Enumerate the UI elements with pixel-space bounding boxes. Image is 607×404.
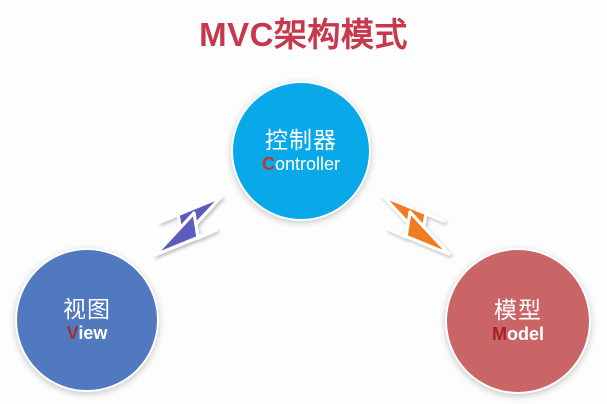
node-model-label-cn: 模型 [494,298,542,323]
connector-controller-view [155,197,221,255]
node-model-label-en: Model [492,324,544,345]
node-controller-label-en: Controller [262,154,340,175]
node-model[interactable]: 模型 Model [445,248,591,394]
page-title: MVC架构模式 [0,8,607,56]
node-view-label-cn: 视图 [63,297,111,322]
node-controller-initial: C [262,154,275,174]
connector-controller-model [383,196,449,254]
node-model-initial: M [492,324,507,344]
node-controller-label-cn: 控制器 [265,128,337,153]
node-controller-label-en-rest: ontroller [275,154,340,174]
node-view-label-en: View [67,323,108,344]
node-view[interactable]: 视图 View [15,248,159,392]
node-view-initial: V [67,323,79,343]
node-view-label-en-rest: iew [78,323,107,343]
mvc-diagram-canvas: MVC架构模式 控制器 Controller 视图 View [0,0,607,404]
node-model-label-en-rest: odel [507,324,544,344]
node-controller[interactable]: 控制器 Controller [231,81,371,221]
